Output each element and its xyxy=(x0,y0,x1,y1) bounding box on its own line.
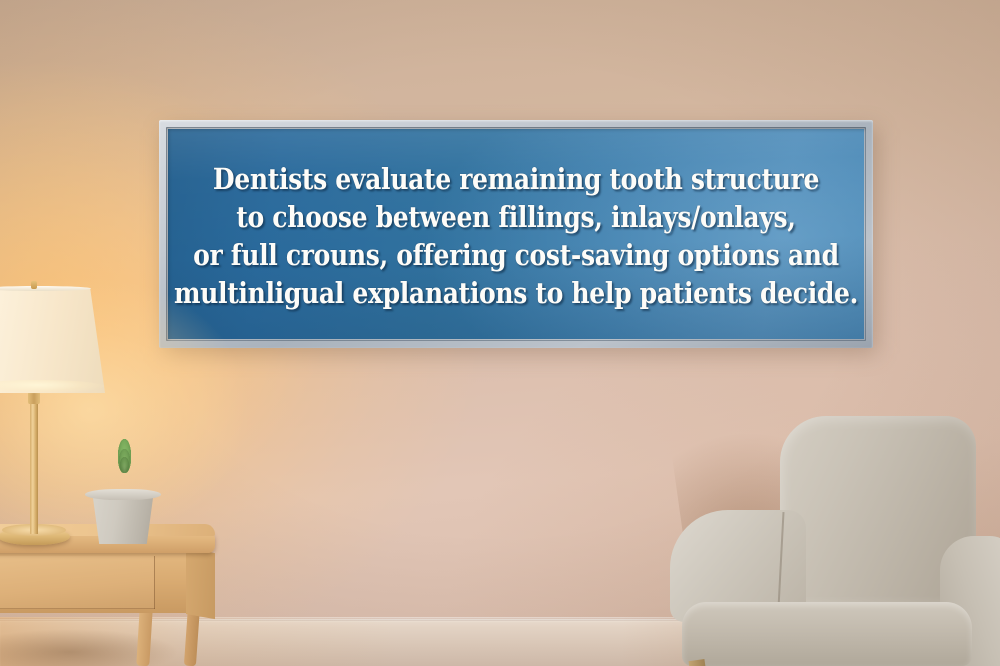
sign-line-2: to choose between fillings, inlays/onlay… xyxy=(236,198,795,236)
succulent-leaf xyxy=(120,457,129,473)
armchair-seat-cushion xyxy=(682,602,972,666)
sign-line-1: Dentists evaluate remaining tooth struct… xyxy=(213,160,819,198)
armchair[interactable] xyxy=(676,416,1000,666)
sign-panel[interactable]: Dentists evaluate remaining tooth struct… xyxy=(168,129,864,339)
sign-text-block: Dentists evaluate remaining tooth struct… xyxy=(210,129,822,339)
room-scene: Dentists evaluate remaining tooth struct… xyxy=(0,0,1000,666)
sign-line-4: multinligual explanations to help patien… xyxy=(174,274,858,312)
armchair-leg xyxy=(689,659,708,666)
pot-rim xyxy=(85,489,161,500)
lamp-finial xyxy=(31,281,37,289)
table-side-panel xyxy=(186,548,215,619)
lamp-stem xyxy=(30,400,38,534)
table-drawer[interactable] xyxy=(0,556,155,609)
lamp-shade[interactable] xyxy=(0,288,105,393)
sign-line-3: or full crouns, offering cost-saving opt… xyxy=(193,236,839,274)
